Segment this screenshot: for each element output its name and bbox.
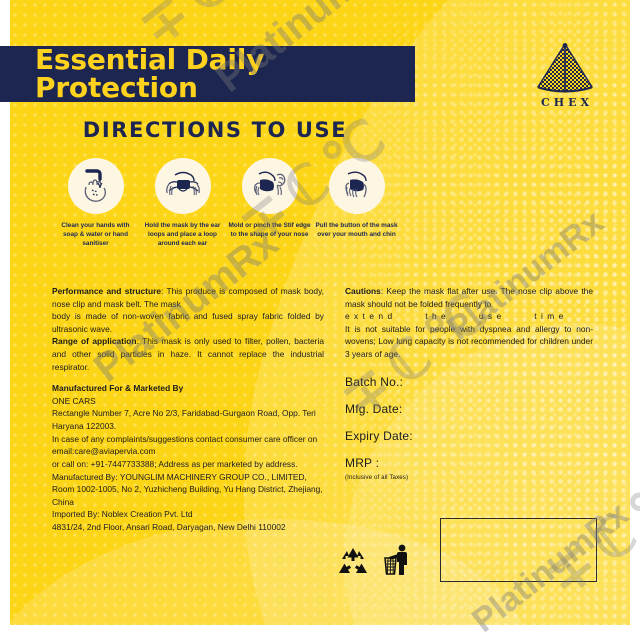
step-icon-circle bbox=[155, 158, 211, 214]
manufactured-for-label-text: Manufactured For & Marketed By bbox=[52, 383, 183, 393]
pinch-nose-clip-icon bbox=[248, 166, 292, 206]
product-label-page: Essential Daily Protection CHEX DIRECTIO… bbox=[0, 0, 640, 640]
header-banner: Essential Daily Protection bbox=[0, 46, 415, 102]
importer-address: 4831/24, 2nd Floor, Ansari Road, Daryaga… bbox=[52, 521, 324, 534]
field-expiry-date[interactable]: Expiry Date: bbox=[345, 429, 593, 443]
performance-paragraph: Performance and structure: This produce … bbox=[52, 285, 324, 310]
cautions-paragraph-2: It is not suitable for people with dyspn… bbox=[345, 323, 593, 361]
dispose-in-bin-icon bbox=[383, 543, 413, 577]
manufactured-by: Manufactured By: YOUNGLIM MACHINERY GROU… bbox=[52, 471, 324, 509]
care-phone: or call on: +91-7447733388; Address as p… bbox=[52, 458, 324, 471]
directions-heading: DIRECTIONS TO USE bbox=[0, 118, 430, 142]
left-text-column: Performance and structure: This produce … bbox=[52, 285, 324, 534]
complaints-line: In case of any complaints/suggestions co… bbox=[52, 433, 324, 446]
barcode-placeholder-box bbox=[440, 518, 597, 582]
brand-logo: CHEX bbox=[525, 43, 605, 109]
banner-title: Essential Daily Protection bbox=[0, 46, 415, 102]
step-caption: Clean your hands with soap & water or ha… bbox=[52, 221, 139, 248]
range-label: Range of application bbox=[52, 336, 137, 346]
company-name: ONE CARS bbox=[52, 395, 324, 408]
step-icon-circle bbox=[242, 158, 298, 214]
chex-pyramid-icon bbox=[534, 43, 596, 95]
step-icon-circle bbox=[68, 158, 124, 214]
footer-symbols bbox=[337, 543, 413, 577]
logo-wordmark: CHEX bbox=[525, 96, 605, 109]
right-text-column: Cautions: Keep the mask flat after use. … bbox=[345, 285, 593, 481]
recycle-icon bbox=[337, 547, 369, 577]
step-item: Clean your hands with soap & water or ha… bbox=[52, 158, 139, 248]
step-item: Hold the mask by the ear loops and place… bbox=[139, 158, 226, 248]
cautions-spaced-line: extend the use time bbox=[345, 310, 593, 323]
performance-paragraph-2: body is made of non-woven fabric and fus… bbox=[52, 310, 324, 335]
field-mfg-date[interactable]: Mfg. Date: bbox=[345, 402, 593, 416]
step-caption: Pull the button of the mask over your mo… bbox=[313, 221, 400, 239]
directions-steps: Clean your hands with soap & water or ha… bbox=[52, 158, 400, 248]
step-caption: Hold the mask by the ear loops and place… bbox=[139, 221, 226, 248]
mrp-tax-note: (Inclusive of all Taxes) bbox=[345, 474, 593, 481]
pull-mask-over-chin-icon bbox=[335, 166, 379, 206]
cautions-label: Cautions bbox=[345, 286, 381, 296]
performance-label: Performance and structure bbox=[52, 286, 161, 296]
manufactured-for-label: Manufactured For & Marketed By bbox=[52, 382, 324, 395]
cautions-paragraph: Cautions: Keep the mask flat after use. … bbox=[345, 285, 593, 310]
step-icon-circle bbox=[329, 158, 385, 214]
step-caption: Mold or pinch the Stif edge to the shape… bbox=[226, 221, 313, 239]
cautions-text: : Keep the mask flat after use. The nose… bbox=[345, 286, 593, 309]
care-email: email:care@aviapervia.com bbox=[52, 445, 324, 458]
field-batch-no[interactable]: Batch No.: bbox=[345, 375, 593, 389]
field-mrp[interactable]: MRP : bbox=[345, 456, 593, 470]
wash-hands-icon bbox=[75, 165, 117, 207]
imported-by: Imported By: Noblex Creation Pvt. Ltd bbox=[52, 508, 324, 521]
company-address: Rectangle Number 7, Acre No 2/3, Faridab… bbox=[52, 407, 324, 432]
step-item: Mold or pinch the Stif edge to the shape… bbox=[226, 158, 313, 248]
step-item: Pull the button of the mask over your mo… bbox=[313, 158, 400, 248]
label-fields: Batch No.: Mfg. Date: Expiry Date: MRP :… bbox=[345, 375, 593, 481]
range-paragraph: Range of application: This mask is only … bbox=[52, 335, 324, 373]
hold-mask-ear-loops-icon bbox=[161, 166, 205, 206]
spacer bbox=[52, 373, 324, 382]
